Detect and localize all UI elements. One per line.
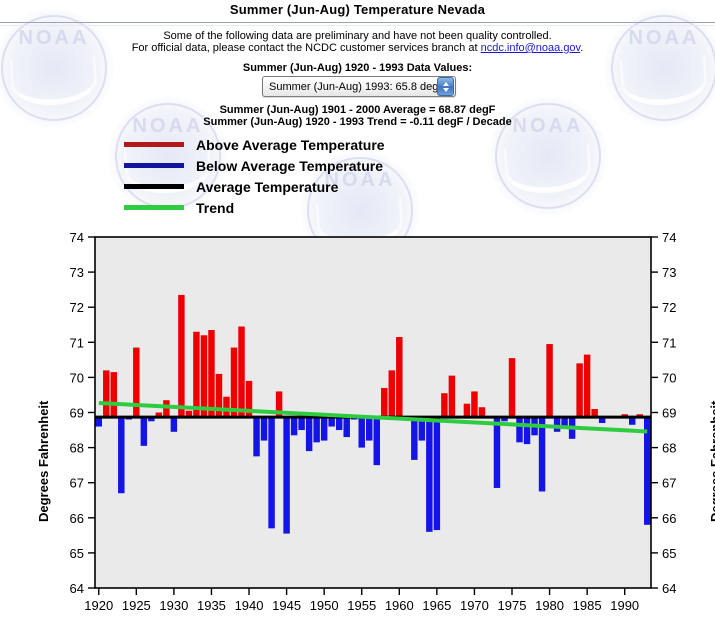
bar-1959[interactable] xyxy=(389,370,395,417)
header-divider xyxy=(0,22,715,26)
y-tick-label-left-64: 64 xyxy=(70,581,84,596)
y-tick-label-right-73: 73 xyxy=(662,265,676,280)
bar-1967[interactable] xyxy=(449,376,455,417)
average-statistic: Summer (Jun-Aug) 1901 - 2000 Average = 6… xyxy=(0,104,715,116)
y-tick-label-left-68: 68 xyxy=(70,441,84,456)
y-axis-label-right: Degrees Fahrenheit xyxy=(708,401,715,522)
y-tick-label-right-65: 65 xyxy=(662,546,676,561)
bar-1930[interactable] xyxy=(171,417,177,432)
x-tick-label-1925: 1925 xyxy=(122,598,151,613)
bar-1953[interactable] xyxy=(343,417,349,437)
y-tick-label-right-72: 72 xyxy=(662,300,676,315)
y-tick-label-right-74: 74 xyxy=(662,230,676,245)
bar-1960[interactable] xyxy=(396,337,402,417)
bar-1947[interactable] xyxy=(298,417,304,430)
legend-item-average: Average Temperature xyxy=(124,176,385,197)
y-tick-label-left-66: 66 xyxy=(70,511,84,526)
y-tick-label-left-65: 65 xyxy=(70,546,84,561)
bar-1980[interactable] xyxy=(546,344,552,417)
y-tick-label-right-68: 68 xyxy=(662,441,676,456)
legend-label-above-average: Above Average Temperature xyxy=(196,137,385,153)
plot-svg: 6464656566666767686869697070717172727373… xyxy=(0,222,715,618)
y-tick-label-right-70: 70 xyxy=(662,370,676,385)
bar-1977[interactable] xyxy=(524,417,530,444)
x-tick-label-1980: 1980 xyxy=(535,598,564,613)
chevron-up-icon[interactable] xyxy=(443,82,449,86)
bar-1965[interactable] xyxy=(434,417,440,530)
x-tick-label-1940: 1940 xyxy=(235,598,264,613)
x-tick-label-1950: 1950 xyxy=(310,598,339,613)
x-tick-label-1975: 1975 xyxy=(498,598,527,613)
legend-label-average: Average Temperature xyxy=(196,179,338,195)
bar-1931[interactable] xyxy=(178,295,184,417)
y-tick-label-right-64: 64 xyxy=(662,581,676,596)
x-tick-label-1990: 1990 xyxy=(610,598,639,613)
bar-1958[interactable] xyxy=(381,388,387,417)
legend-item-below-average: Below Average Temperature xyxy=(124,155,385,176)
bar-1946[interactable] xyxy=(291,417,297,435)
bar-1942[interactable] xyxy=(261,417,267,441)
disclaimer-line-1: Some of the following data are prelimina… xyxy=(0,30,715,42)
y-tick-label-right-66: 66 xyxy=(662,511,676,526)
bar-1926[interactable] xyxy=(141,417,147,446)
y-tick-label-right-69: 69 xyxy=(662,406,676,421)
y-tick-label-left-67: 67 xyxy=(70,476,84,491)
bar-1935[interactable] xyxy=(208,330,214,417)
bar-1966[interactable] xyxy=(441,393,447,417)
x-tick-label-1985: 1985 xyxy=(573,598,602,613)
bar-1969[interactable] xyxy=(464,404,470,417)
y-axis-label-left: Degrees Fahrenheit xyxy=(36,401,51,522)
page-title: Summer (Jun-Aug) Temperature Nevada xyxy=(0,2,715,17)
x-tick-label-1930: 1930 xyxy=(159,598,188,613)
x-tick-label-1945: 1945 xyxy=(272,598,301,613)
bar-1933[interactable] xyxy=(193,332,199,417)
x-tick-label-1960: 1960 xyxy=(385,598,414,613)
bar-1956[interactable] xyxy=(366,417,372,441)
bar-1985[interactable] xyxy=(584,355,590,417)
bar-1964[interactable] xyxy=(426,417,432,532)
bar-1934[interactable] xyxy=(201,335,207,417)
bar-1945[interactable] xyxy=(283,417,289,534)
stepper-icon[interactable] xyxy=(437,77,454,96)
chevron-down-icon[interactable] xyxy=(443,88,449,92)
y-tick-label-left-71: 71 xyxy=(70,335,84,350)
legend-label-below-average: Below Average Temperature xyxy=(196,158,383,174)
x-tick-label-1920: 1920 xyxy=(84,598,113,613)
bar-1923[interactable] xyxy=(118,417,124,493)
bar-1970[interactable] xyxy=(471,391,477,417)
bar-1948[interactable] xyxy=(306,417,312,451)
legend-item-trend: Trend xyxy=(124,197,385,218)
trend-statistic: Summer (Jun-Aug) 1920 - 1993 Trend = -0.… xyxy=(0,116,715,128)
chart-legend: Above Average Temperature Below Average … xyxy=(124,134,385,218)
disclaimer: Some of the following data are prelimina… xyxy=(0,30,715,54)
temperature-bar-chart: Degrees Fahrenheit Degrees Fahrenheit 64… xyxy=(0,222,715,618)
data-values-selected-option: Summer (Jun-Aug) 1993: 65.8 degF Rank: 3 xyxy=(263,81,437,93)
y-tick-label-left-74: 74 xyxy=(70,230,84,245)
data-values-select[interactable]: Summer (Jun-Aug) 1993: 65.8 degF Rank: 3 xyxy=(262,76,456,97)
statistics: Summer (Jun-Aug) 1901 - 2000 Average = 6… xyxy=(0,104,715,128)
bar-1984[interactable] xyxy=(576,363,582,417)
data-values-label: Summer (Jun-Aug) 1920 - 1993 Data Values… xyxy=(0,62,715,74)
disclaimer-line-2: For official data, please contact the NC… xyxy=(0,42,715,54)
disclaimer-line-2-text: For official data, please contact the NC… xyxy=(132,42,481,54)
y-tick-label-left-69: 69 xyxy=(70,406,84,421)
y-tick-label-left-72: 72 xyxy=(70,300,84,315)
bar-1957[interactable] xyxy=(374,417,380,465)
y-tick-label-right-71: 71 xyxy=(662,335,676,350)
x-tick-label-1955: 1955 xyxy=(347,598,376,613)
bar-1937[interactable] xyxy=(223,397,229,417)
bar-1922[interactable] xyxy=(111,372,117,417)
bar-1962[interactable] xyxy=(411,417,417,460)
y-tick-label-left-70: 70 xyxy=(70,370,84,385)
legend-swatch-below-average xyxy=(124,163,184,168)
bar-1955[interactable] xyxy=(359,417,365,448)
legend-swatch-above-average xyxy=(124,142,184,147)
bar-1975[interactable] xyxy=(509,358,515,417)
bar-1949[interactable] xyxy=(313,417,319,442)
x-tick-label-1965: 1965 xyxy=(422,598,451,613)
disclaimer-line-2-period: . xyxy=(580,42,583,54)
ncdc-email-link[interactable]: ncdc.info@noaa.gov xyxy=(481,42,581,54)
bar-1981[interactable] xyxy=(554,417,560,432)
y-tick-label-left-73: 73 xyxy=(70,265,84,280)
bar-1973[interactable] xyxy=(494,417,500,488)
x-tick-label-1970: 1970 xyxy=(460,598,489,613)
bar-1952[interactable] xyxy=(336,417,342,430)
y-tick-label-right-67: 67 xyxy=(662,476,676,491)
bar-1979[interactable] xyxy=(539,417,545,491)
legend-swatch-average xyxy=(124,184,184,189)
bar-1921[interactable] xyxy=(103,370,109,417)
bar-1976[interactable] xyxy=(516,417,522,442)
bar-1941[interactable] xyxy=(253,417,259,456)
bar-1939[interactable] xyxy=(238,327,244,418)
bar-1950[interactable] xyxy=(321,417,327,441)
x-tick-label-1935: 1935 xyxy=(197,598,226,613)
bar-1943[interactable] xyxy=(268,417,274,528)
legend-item-above-average: Above Average Temperature xyxy=(124,134,385,155)
bar-1938[interactable] xyxy=(231,348,237,418)
legend-label-trend: Trend xyxy=(196,200,234,216)
legend-swatch-trend xyxy=(124,205,184,210)
